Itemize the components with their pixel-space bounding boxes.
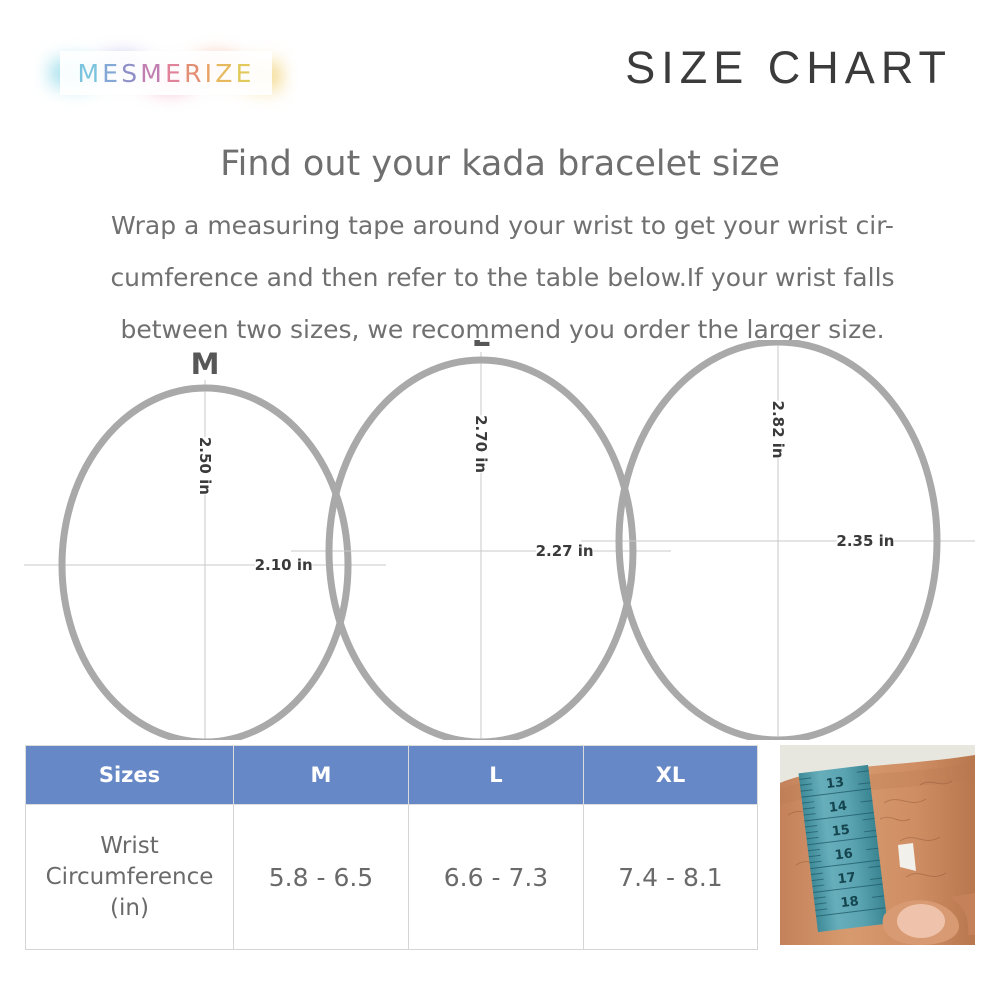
tape-mark: 13 — [825, 775, 845, 792]
headline: Find out your kada bracelet size — [0, 144, 1000, 184]
brand-logo: MESMERIZE — [46, 44, 284, 102]
column-header-m: M — [234, 746, 409, 805]
oval-height-label-xl: 2.82 in — [769, 401, 787, 459]
oval-width-label-m: 2.10 in — [255, 556, 313, 574]
logo-letter: M — [77, 59, 102, 88]
oval-width-label-l: 2.27 in — [536, 542, 594, 560]
logo-letter: E — [165, 59, 184, 88]
column-header-xl: XL — [584, 746, 758, 805]
tape-mark: 15 — [831, 823, 851, 840]
size-diagram: M2.50 in2.10 inL2.70 in2.27 inXL2.82 in2… — [0, 340, 1000, 740]
cell-wrist-l: 6.6 - 7.3 — [409, 805, 584, 950]
logo-letter: E — [102, 59, 121, 88]
oval-size-label-l: L — [472, 340, 490, 353]
wrist-measurement-photo: 131415161718 — [780, 745, 975, 945]
logo-wordmark: MESMERIZE — [60, 51, 272, 95]
logo-letter: R — [184, 59, 205, 88]
page-header: MESMERIZE SIZE CHART — [0, 0, 1000, 125]
tape-mark: 14 — [828, 799, 848, 816]
intro-line-1: Wrap a measuring tape around your wrist … — [50, 200, 955, 252]
logo-letter: Z — [215, 59, 235, 88]
logo-letter: S — [121, 59, 140, 88]
wrist-photo-illustration: 131415161718 — [780, 745, 975, 945]
table-header-row: Sizes M L XL — [26, 746, 758, 805]
oval-diagram-svg: M2.50 in2.10 inL2.70 in2.27 inXL2.82 in2… — [0, 340, 1000, 740]
logo-letter: I — [205, 59, 216, 88]
row-label-line-2: Circumference — [46, 864, 214, 890]
column-header-sizes: Sizes — [26, 746, 234, 805]
column-header-l: L — [409, 746, 584, 805]
oval-height-label-l: 2.70 in — [472, 415, 490, 473]
table-row: Wrist Circumference (in) 5.8 - 6.5 6.6 -… — [26, 805, 758, 950]
page-title: SIZE CHART — [625, 42, 952, 94]
tape-mark: 16 — [834, 846, 854, 863]
tape-mark: 18 — [840, 894, 860, 911]
oval-height-label-m: 2.50 in — [196, 437, 214, 495]
intro-paragraph: Wrap a measuring tape around your wrist … — [50, 200, 955, 356]
logo-letter: E — [236, 59, 255, 88]
oval-size-label-m: M — [191, 347, 220, 381]
logo-letter: M — [140, 59, 165, 88]
tape-mark: 17 — [837, 870, 857, 887]
row-label-line-1: Wrist — [100, 833, 159, 859]
size-table: Sizes M L XL Wrist Circumference (in) 5.… — [25, 745, 758, 950]
row-label-line-3: (in) — [110, 895, 149, 921]
row-header-wrist-circumference: Wrist Circumference (in) — [26, 805, 234, 950]
oval-width-label-xl: 2.35 in — [836, 532, 894, 550]
cell-wrist-xl: 7.4 - 8.1 — [584, 805, 758, 950]
intro-line-2: cumference and then refer to the table b… — [50, 252, 955, 304]
cell-wrist-m: 5.8 - 6.5 — [234, 805, 409, 950]
